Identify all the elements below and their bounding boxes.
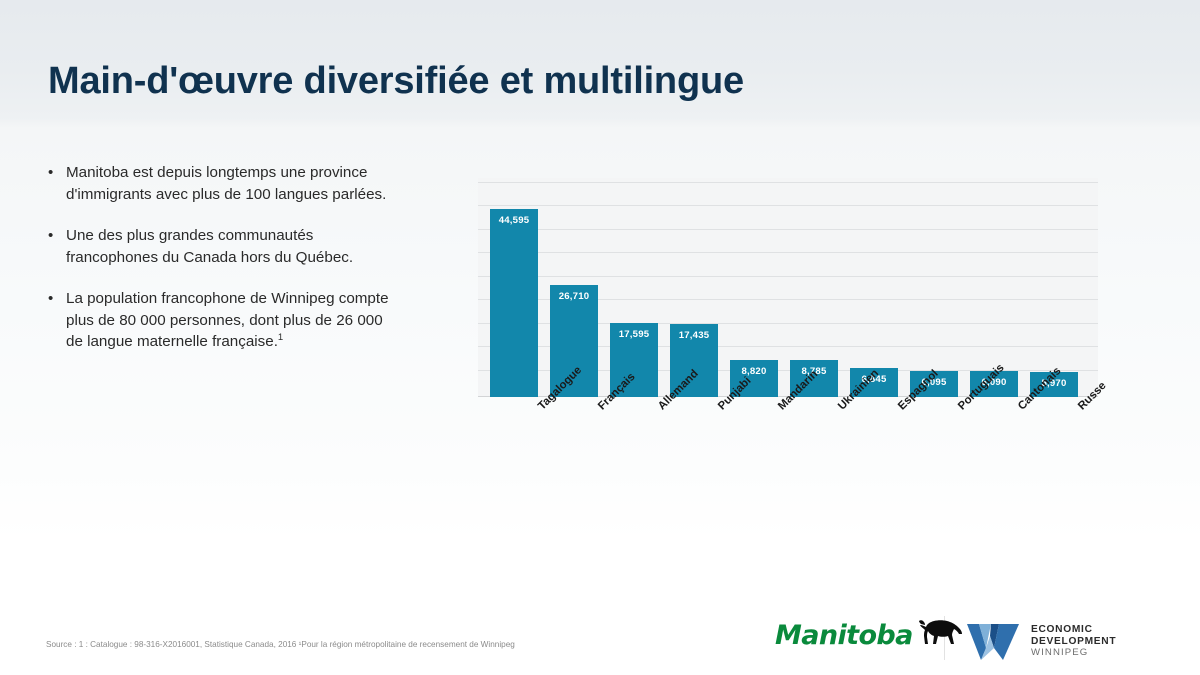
x-axis-label: Français (596, 404, 604, 412)
bar-chart: 44,59526,71017,59517,4358,8208,7856,8456… (478, 178, 1098, 398)
bullet-text: Une des plus grandes communautés francop… (66, 227, 353, 266)
bullet-item: •Une des plus grandes communautés franco… (44, 225, 396, 268)
edw-logo: ECONOMIC DEVELOPMENT WINNIPEG (965, 618, 1116, 665)
bullet-marker: • (48, 225, 53, 247)
bar-series: 44,59526,71017,59517,4358,8208,7856,8456… (478, 178, 1098, 397)
manitoba-wordmark: Manitoba (775, 620, 913, 651)
bullet-marker: • (48, 288, 53, 310)
footnote-marker: 1 (278, 332, 283, 343)
bar-value-label: 17,595 (610, 329, 658, 340)
bullet-list: •Manitoba est depuis longtemps une provi… (44, 162, 396, 353)
bullet-item: •La population francophone de Winnipeg c… (44, 288, 396, 353)
bison-icon (919, 616, 963, 651)
bar-value-label: 44,595 (490, 215, 538, 226)
bar-value-label: 17,435 (670, 330, 718, 341)
page-title: Main-d'œuvre diversifiée et multilingue (48, 60, 744, 103)
logo-bar: Manitoba ECONOMIC DEVELOPM (775, 612, 1160, 666)
x-axis-label: Espagnol (896, 404, 904, 412)
x-axis-label: Allemand (656, 404, 664, 412)
x-axis-label: Cantonais (1016, 404, 1024, 412)
bullet-marker: • (48, 162, 53, 184)
edw-line-1: ECONOMIC (1031, 624, 1116, 636)
edw-line-3: WINNIPEG (1031, 647, 1116, 659)
bullet-item: •Manitoba est depuis longtemps une provi… (44, 162, 396, 205)
bullet-text: La population francophone de Winnipeg co… (66, 290, 389, 350)
x-axis-label: Portuguais (956, 404, 964, 412)
source-footnote: Source : 1 : Catalogue : 98-316-X2016001… (46, 640, 515, 649)
edw-text: ECONOMIC DEVELOPMENT WINNIPEG (1031, 624, 1116, 659)
manitoba-logo: Manitoba (775, 620, 963, 651)
edw-line-2: DEVELOPMENT (1031, 636, 1116, 648)
bar-value-label: 8,820 (730, 366, 778, 377)
x-axis-label: Mandarin (776, 404, 784, 412)
bar-slot: 44,595 (490, 209, 538, 397)
slide: Main-d'œuvre diversifiée et multilingue … (0, 0, 1200, 675)
x-axis-label: Russe (1076, 404, 1084, 412)
x-axis-label: Ukrainien (836, 404, 844, 412)
bar-value-label: 26,710 (550, 291, 598, 302)
x-axis-label: Punjabi (716, 404, 724, 412)
bar[interactable]: 44,595 (490, 209, 538, 397)
w-mark-icon (965, 618, 1021, 665)
x-axis-label: Tagalogue (536, 404, 544, 412)
bullet-text: Manitoba est depuis longtemps une provin… (66, 164, 386, 203)
